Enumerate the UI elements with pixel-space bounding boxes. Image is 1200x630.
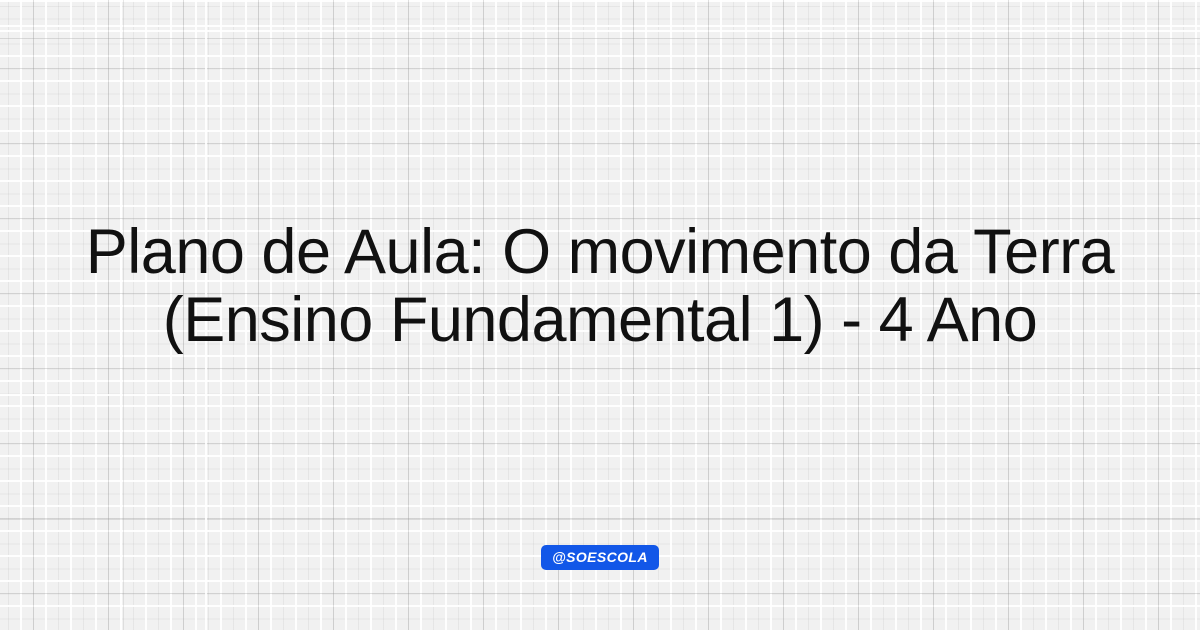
brand-badge: @SOESCOLA bbox=[541, 545, 659, 570]
page-title-line-2: (Ensino Fundamental 1) - 4 Ano bbox=[20, 286, 1180, 354]
page-title-line-1: Plano de Aula: O movimento da Terra bbox=[20, 218, 1180, 286]
page-title: Plano de Aula: O movimento da Terra (Ens… bbox=[20, 218, 1180, 354]
card-content: Plano de Aula: O movimento da Terra (Ens… bbox=[0, 0, 1200, 630]
brand-badge-container: @SOESCOLA bbox=[0, 545, 1200, 570]
link-preview-card: Plano de Aula: O movimento da Terra (Ens… bbox=[0, 0, 1200, 630]
